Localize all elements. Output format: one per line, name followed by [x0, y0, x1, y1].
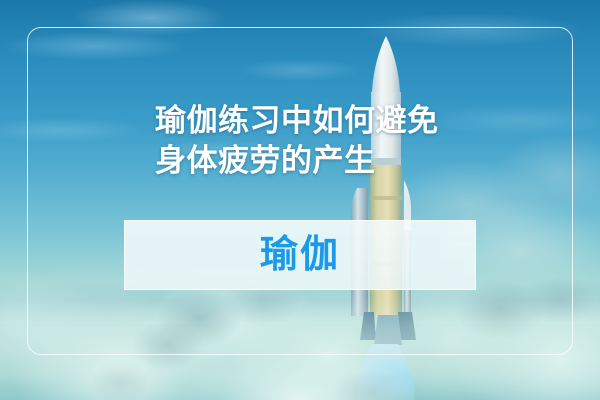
- cloud-wisps: [0, 0, 600, 400]
- keyword-label: 瑜伽: [260, 236, 340, 274]
- smoke-shadows: [0, 0, 600, 400]
- keyword-banner: 瑜伽: [124, 220, 476, 290]
- page-title: 瑜伽练习中如何避免 身体疲劳的产生: [155, 101, 455, 181]
- exhaust-cloud: [0, 0, 600, 400]
- sky-background: [0, 0, 600, 400]
- headline-line-2: 身体疲劳的产生: [155, 141, 455, 181]
- decorative-frame: [27, 27, 573, 355]
- headline-line-1: 瑜伽练习中如何避免: [155, 101, 455, 141]
- poster-image: 瑜伽练习中如何避免 身体疲劳的产生 瑜伽: [0, 0, 600, 400]
- rocket-illustration: [0, 0, 600, 400]
